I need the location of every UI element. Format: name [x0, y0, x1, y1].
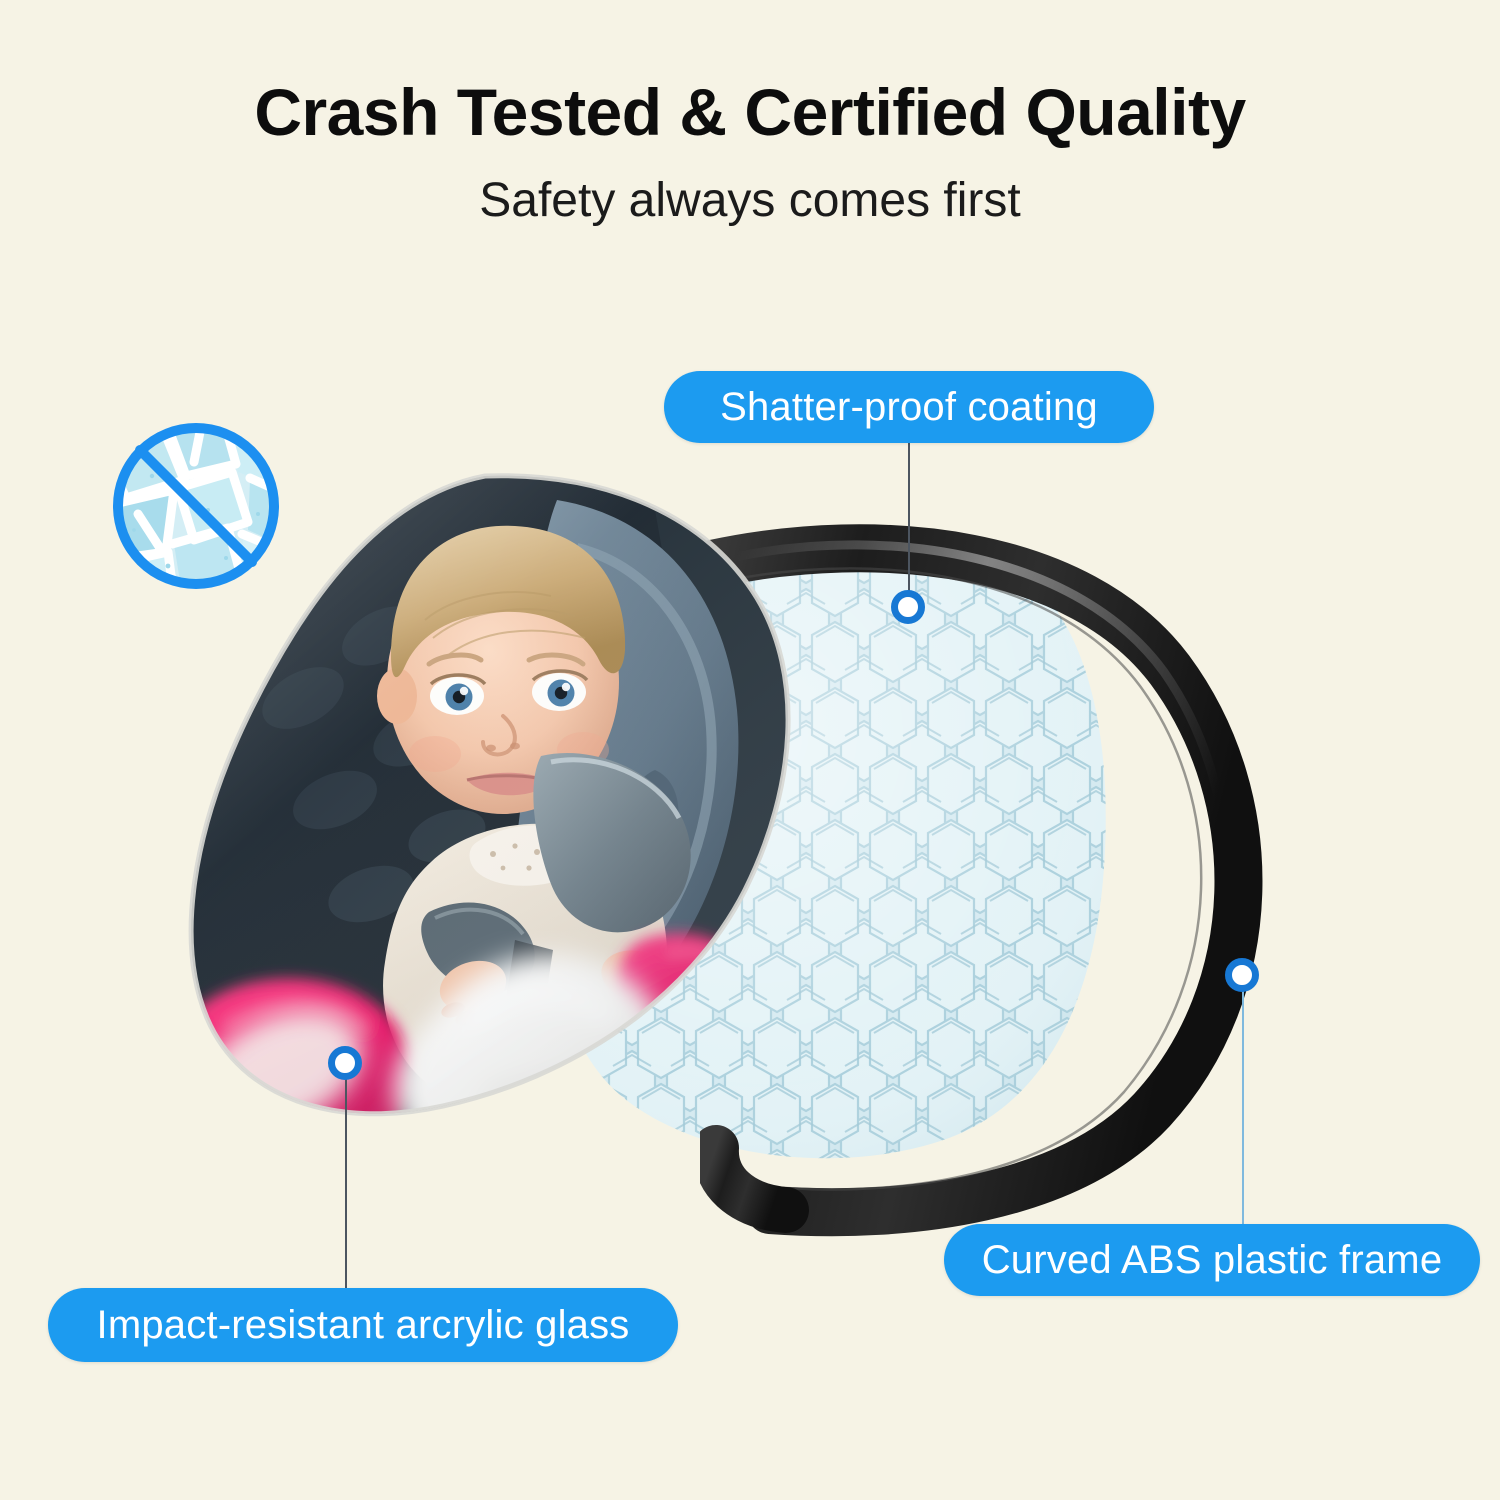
page-subtitle: Safety always comes first [0, 175, 1500, 228]
anchor-dot-shatter-proof-coating[interactable] [891, 590, 925, 624]
page-title: Crash Tested & Certified Quality [0, 78, 1500, 147]
honeycomb-back-shell [545, 520, 1115, 1160]
leader-line-acrylic [345, 1072, 347, 1294]
curved-abs-frame [700, 520, 1320, 1240]
anchor-dot-abs-frame[interactable] [1225, 958, 1259, 992]
leader-line-shatter [908, 443, 910, 607]
callout-pill-curved-abs-plastic-frame[interactable]: Curved ABS plastic frame [944, 1224, 1480, 1296]
callout-pill-shatter-proof-coating[interactable]: Shatter-proof coating [664, 371, 1154, 443]
callout-pill-impact-resistant-acrylic-glass[interactable]: Impact-resistant arcrylic glass [48, 1288, 678, 1362]
leader-line-frame [1242, 984, 1244, 1229]
infographic-canvas: Crash Tested & Certified Quality Safety … [0, 0, 1500, 1500]
shatter-proof-badge-icon [108, 418, 284, 594]
anchor-dot-acrylic-glass[interactable] [328, 1046, 362, 1080]
